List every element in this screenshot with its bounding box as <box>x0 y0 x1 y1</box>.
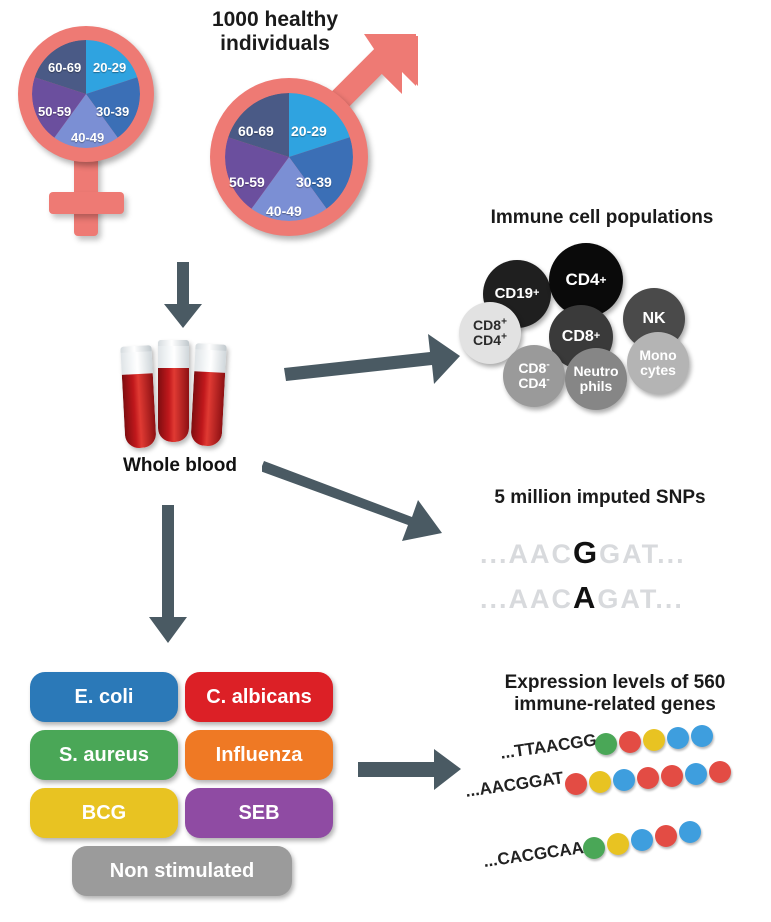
male-symbol: 60-69 20-29 30-39 40-49 50-59 <box>200 40 420 250</box>
gene-bead <box>661 765 683 787</box>
expression-sequence-row: ...CACGCAA <box>482 838 585 872</box>
blood-tubes <box>105 328 255 448</box>
gene-bead <box>691 725 713 747</box>
gene-bead <box>583 837 605 859</box>
gene-bead <box>655 825 677 847</box>
immune-cell-label: CD8 <box>562 329 594 346</box>
snp-variant-allele: A <box>573 580 597 615</box>
female-symbol-crossbar <box>49 192 124 214</box>
figure-canvas: 1000 healthy individuals 60-69 20-29 30-… <box>0 0 771 922</box>
male-age-label-40-49: 40-49 <box>266 203 302 219</box>
male-age-label-50-59: 50-59 <box>229 174 265 190</box>
immune-cell-label: NK <box>642 311 665 328</box>
immune-cell-label: CD8+CD4+ <box>473 318 507 347</box>
blood-tube-cap <box>120 345 153 353</box>
blood-tube <box>158 340 189 442</box>
stimulus-label: Non stimulated <box>110 860 254 883</box>
male-age-pie <box>225 93 353 221</box>
gene-bead <box>679 821 701 843</box>
female-age-label-20-29: 20-29 <box>93 60 126 75</box>
stimulus-label: E. coli <box>75 686 134 709</box>
snp-sequence-group: ...AACGGAT... ...AACAGAT... <box>470 525 750 625</box>
immune-cell-cd8neg-cd4neg: CD8-CD4- <box>503 345 565 407</box>
snp-sequence-row: ...AACGGAT... <box>480 535 686 571</box>
stimulus-s-aureus[interactable]: S. aureus <box>30 730 178 780</box>
gene-bead <box>619 731 641 753</box>
male-age-label-30-39: 30-39 <box>296 174 332 190</box>
female-age-label-50-59: 50-59 <box>38 104 71 119</box>
snp-prefix: ...AAC <box>480 584 573 614</box>
gene-bead <box>637 767 659 789</box>
stimulus-label: Influenza <box>216 744 303 767</box>
immune-cell-label: CD19 <box>495 286 533 302</box>
immune-cell-superscript: + <box>594 331 600 342</box>
gene-bead <box>607 833 629 855</box>
male-age-label-60-69: 60-69 <box>238 123 274 139</box>
arrow-blood-to-snp <box>262 455 452 555</box>
blood-tube-fill <box>122 373 157 449</box>
female-age-label-60-69: 60-69 <box>48 60 81 75</box>
snp-sequence-row: ...AACAGAT... <box>480 580 684 616</box>
stimulus-influenza[interactable]: Influenza <box>185 730 333 780</box>
immune-cell-label: CD8-CD4- <box>518 361 549 390</box>
gene-bead <box>595 733 617 755</box>
stimulus-label: SEB <box>238 802 279 825</box>
male-age-pie-svg <box>225 93 353 221</box>
blood-tube <box>190 343 226 446</box>
arrow-stimuli-to-expression <box>358 748 463 794</box>
expression-group: ...TTAACGG ...AACGGAT ...CACGCAA <box>455 725 765 910</box>
male-age-label-20-29: 20-29 <box>291 123 327 139</box>
expression-title: Expression levels of 560 immune-related … <box>470 672 760 716</box>
blood-tube-cap <box>193 343 226 351</box>
immune-cell-neutrophils: Neutrophils <box>565 348 627 410</box>
stimulus-e-coli[interactable]: E. coli <box>30 672 178 722</box>
stimulus-seb[interactable]: SEB <box>185 788 333 838</box>
snp-prefix: ...AAC <box>480 539 573 569</box>
stimulus-bcg[interactable]: BCG <box>30 788 178 838</box>
female-symbol: 60-69 20-29 30-39 40-49 50-59 <box>8 14 188 239</box>
blood-tube-fill <box>158 368 189 442</box>
stimulus-label: C. albicans <box>206 686 312 709</box>
stimuli-group: E. coli C. albicans S. aureus Influenza … <box>30 672 340 892</box>
snp-title: 5 million imputed SNPs <box>455 487 745 509</box>
whole-blood-label: Whole blood <box>75 455 285 477</box>
blood-tube <box>120 345 156 448</box>
gene-bead <box>631 829 653 851</box>
snp-variant-allele: G <box>573 535 599 570</box>
female-age-label-30-39: 30-39 <box>96 104 129 119</box>
stimulus-label: BCG <box>82 802 126 825</box>
immune-cell-label: CD4 <box>565 271 599 289</box>
arrow-blood-to-stimuli <box>145 505 191 645</box>
stimulus-c-albicans[interactable]: C. albicans <box>185 672 333 722</box>
stimulus-label: S. aureus <box>59 744 149 767</box>
snp-suffix: GAT... <box>597 584 684 614</box>
blood-tube-cap <box>158 340 189 346</box>
arrow-blood-to-immune <box>282 320 462 390</box>
immune-cell-label: Monocytes <box>639 348 676 377</box>
expression-sequence-row: ...TTAACGG <box>499 730 598 763</box>
gene-bead <box>685 763 707 785</box>
male-symbol-arrowhead <box>350 32 422 104</box>
immune-cell-monocytes: Monocytes <box>627 332 689 394</box>
gene-bead <box>643 729 665 751</box>
arrow-cohort-to-blood <box>160 262 206 330</box>
immune-cell-group: CD19+ CD4+ NK CD8+ CD8+CD4+ CD8-CD4- Neu… <box>455 240 755 415</box>
female-age-label-40-49: 40-49 <box>71 130 104 145</box>
gene-bead <box>565 773 587 795</box>
gene-bead <box>589 771 611 793</box>
gene-bead <box>709 761 731 783</box>
immune-cell-label: Neutrophils <box>573 364 618 393</box>
immune-cell-populations-title: Immune cell populations <box>452 207 752 229</box>
stimulus-non-stimulated[interactable]: Non stimulated <box>72 846 292 896</box>
gene-bead <box>613 769 635 791</box>
immune-cell-superscript: + <box>600 274 607 286</box>
snp-suffix: GAT... <box>599 539 686 569</box>
blood-tube-fill <box>190 371 225 447</box>
expression-sequence-row: ...AACGGAT <box>464 768 565 802</box>
immune-cell-superscript: + <box>533 288 539 299</box>
gene-bead <box>667 727 689 749</box>
